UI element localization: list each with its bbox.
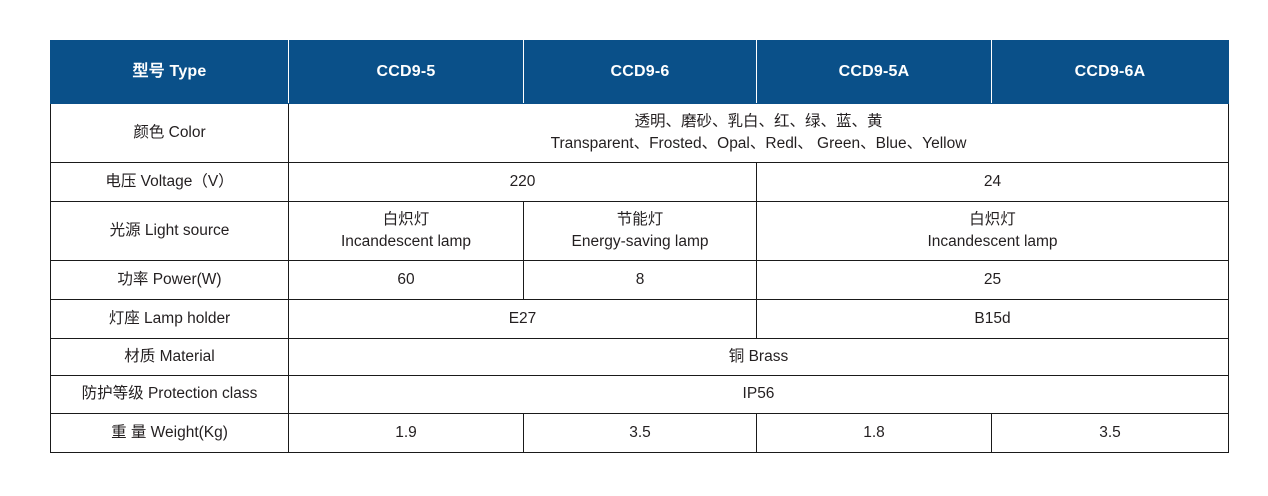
specification-table: 型号 Type CCD9-5 CCD9-6 CCD9-5A CCD9-6A 颜色… [50,40,1229,453]
cell-line-cn: 白炽灯 [289,209,523,231]
cell-weight-1: 1.9 [289,414,524,453]
cell-light-source-3: 白炽灯 Incandescent lamp [757,202,1229,261]
table-body: 颜色 Color 透明、磨砂、乳白、红、绿、蓝、黄 Transparent、Fr… [51,104,1229,453]
cell-line-en: Incandescent lamp [289,231,523,253]
cell-line-cn: 节能灯 [524,209,756,231]
row-label-lamp-holder: 灯座 Lamp holder [51,300,289,339]
cell-line-en: Incandescent lamp [757,231,1228,253]
cell-voltage-24: 24 [757,163,1229,202]
row-label-protection-class: 防护等级 Protection class [51,376,289,414]
cell-power-1: 60 [289,261,524,300]
row-label-light-source: 光源 Light source [51,202,289,261]
header-cell-type: 型号 Type [51,41,289,104]
header-cell-ccd9-6: CCD9-6 [524,41,757,104]
row-label-power: 功率 Power(W) [51,261,289,300]
row-label-material: 材质 Material [51,339,289,376]
header-cell-ccd9-5a: CCD9-5A [757,41,992,104]
row-label-color: 颜色 Color [51,104,289,163]
cell-light-source-2: 节能灯 Energy-saving lamp [524,202,757,261]
cell-line-en: Transparent、Frosted、Opal、Redl、 Green、Blu… [289,133,1228,155]
cell-lamp-holder-e27: E27 [289,300,757,339]
table-row: 材质 Material 铜 Brass [51,339,1229,376]
cell-line-en: Energy-saving lamp [524,231,756,253]
cell-power-2: 8 [524,261,757,300]
table-row: 电压 Voltage（V） 220 24 [51,163,1229,202]
cell-line-cn: 透明、磨砂、乳白、红、绿、蓝、黄 [289,111,1228,133]
cell-line-cn: 白炽灯 [757,209,1228,231]
table-row: 光源 Light source 白炽灯 Incandescent lamp 节能… [51,202,1229,261]
table-row: 防护等级 Protection class IP56 [51,376,1229,414]
row-label-voltage: 电压 Voltage（V） [51,163,289,202]
table-row: 颜色 Color 透明、磨砂、乳白、红、绿、蓝、黄 Transparent、Fr… [51,104,1229,163]
header-cell-ccd9-6a: CCD9-6A [992,41,1229,104]
specification-table-container: 型号 Type CCD9-5 CCD9-6 CCD9-5A CCD9-6A 颜色… [50,40,1228,453]
cell-weight-2: 3.5 [524,414,757,453]
table-row: 功率 Power(W) 60 8 25 [51,261,1229,300]
cell-weight-4: 3.5 [992,414,1229,453]
cell-color-values: 透明、磨砂、乳白、红、绿、蓝、黄 Transparent、Frosted、Opa… [289,104,1229,163]
cell-protection-class-value: IP56 [289,376,1229,414]
row-label-weight: 重 量 Weight(Kg) [51,414,289,453]
cell-light-source-1: 白炽灯 Incandescent lamp [289,202,524,261]
header-cell-ccd9-5: CCD9-5 [289,41,524,104]
cell-voltage-220: 220 [289,163,757,202]
table-row: 灯座 Lamp holder E27 B15d [51,300,1229,339]
cell-material-value: 铜 Brass [289,339,1229,376]
table-header-row: 型号 Type CCD9-5 CCD9-6 CCD9-5A CCD9-6A [51,41,1229,104]
table-row: 重 量 Weight(Kg) 1.9 3.5 1.8 3.5 [51,414,1229,453]
cell-lamp-holder-b15d: B15d [757,300,1229,339]
cell-weight-3: 1.8 [757,414,992,453]
table-header: 型号 Type CCD9-5 CCD9-6 CCD9-5A CCD9-6A [51,41,1229,104]
cell-power-3: 25 [757,261,1229,300]
